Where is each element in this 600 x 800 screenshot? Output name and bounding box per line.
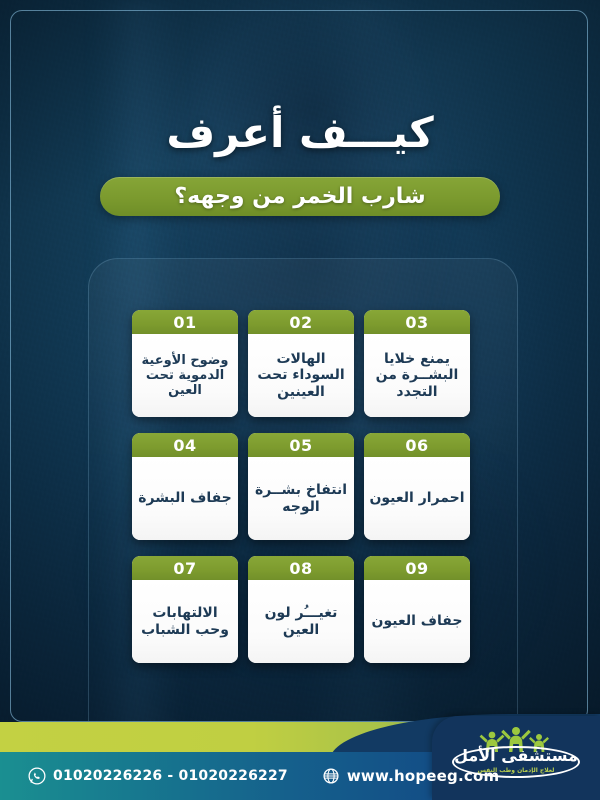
card-body: يمنع خلايا البشــرة من التجدد (364, 334, 470, 417)
card-number: 08 (248, 556, 354, 580)
info-card[interactable]: 04 جفاف البشرة (132, 433, 238, 540)
cards-grid: 03 يمنع خلايا البشــرة من التجدد 02 الها… (130, 310, 470, 663)
card-label: تغيـــُر لون العين (252, 605, 350, 638)
card-number: 02 (248, 310, 354, 334)
card-body: جفاف العيون (364, 580, 470, 663)
card-label: وضوح الأوعية الدموية تحت العين (136, 353, 234, 399)
info-card[interactable]: 09 جفاف العيون (364, 556, 470, 663)
info-card[interactable]: 06 احمرار العيون (364, 433, 470, 540)
cards-row: 09 جفاف العيون 08 تغيـــُر لون العين 07 … (130, 556, 470, 663)
card-number: 07 (132, 556, 238, 580)
info-card[interactable]: 05 انتفاخ بشــرة الوجه (248, 433, 354, 540)
card-number: 03 (364, 310, 470, 334)
card-body: الالتهابات وحب الشباب (132, 580, 238, 663)
card-body: الهالات السوداء تحت العينين (248, 334, 354, 417)
card-body: جفاف البشرة (132, 457, 238, 540)
card-label: احمرار العيون (369, 490, 464, 507)
card-label: يمنع خلايا البشــرة من التجدد (368, 351, 466, 401)
phone-contact[interactable]: 01020226226 - 01020226227 (28, 767, 288, 785)
phone-numbers: 01020226226 - 01020226227 (53, 768, 288, 784)
card-number: 09 (364, 556, 470, 580)
hospital-logo[interactable]: مستشفى الأمل لعلاج الإدمان وطب النفس (452, 724, 580, 788)
info-card[interactable]: 08 تغيـــُر لون العين (248, 556, 354, 663)
card-number: 06 (364, 433, 470, 457)
subtitle-banner: شارب الخمر من وجهه؟ (100, 177, 500, 216)
info-card[interactable]: 03 يمنع خلايا البشــرة من التجدد (364, 310, 470, 417)
card-body: وضوح الأوعية الدموية تحت العين (132, 334, 238, 417)
card-body: تغيـــُر لون العين (248, 580, 354, 663)
card-number: 01 (132, 310, 238, 334)
cards-row: 03 يمنع خلايا البشــرة من التجدد 02 الها… (130, 310, 470, 417)
globe-icon (322, 767, 340, 785)
card-number: 05 (248, 433, 354, 457)
card-label: الهالات السوداء تحت العينين (252, 351, 350, 401)
logo-tagline: لعلاج الإدمان وطب النفس (452, 767, 580, 774)
card-label: جفاف البشرة (138, 490, 232, 507)
info-card[interactable]: 01 وضوح الأوعية الدموية تحت العين (132, 310, 238, 417)
card-number: 04 (132, 433, 238, 457)
card-label: انتفاخ بشــرة الوجه (252, 482, 350, 515)
info-card[interactable]: 02 الهالات السوداء تحت العينين (248, 310, 354, 417)
page-title: كيـــف أعرف (0, 108, 600, 157)
footer-contact-group: 01020226226 - 01020226227 www.hopeeg.com (28, 752, 499, 800)
whatsapp-icon (28, 767, 46, 785)
cards-row: 06 احمرار العيون 05 انتفاخ بشــرة الوجه … (130, 433, 470, 540)
card-body: احمرار العيون (364, 457, 470, 540)
info-card[interactable]: 07 الالتهابات وحب الشباب (132, 556, 238, 663)
logo-name: مستشفى الأمل (452, 748, 580, 764)
card-label: الالتهابات وحب الشباب (136, 605, 234, 638)
subtitle-text: شارب الخمر من وجهه؟ (174, 186, 425, 208)
card-label: جفاف العيون (372, 613, 463, 630)
card-body: انتفاخ بشــرة الوجه (248, 457, 354, 540)
infographic-poster: كيـــف أعرف شارب الخمر من وجهه؟ 03 يمنع … (0, 0, 600, 800)
